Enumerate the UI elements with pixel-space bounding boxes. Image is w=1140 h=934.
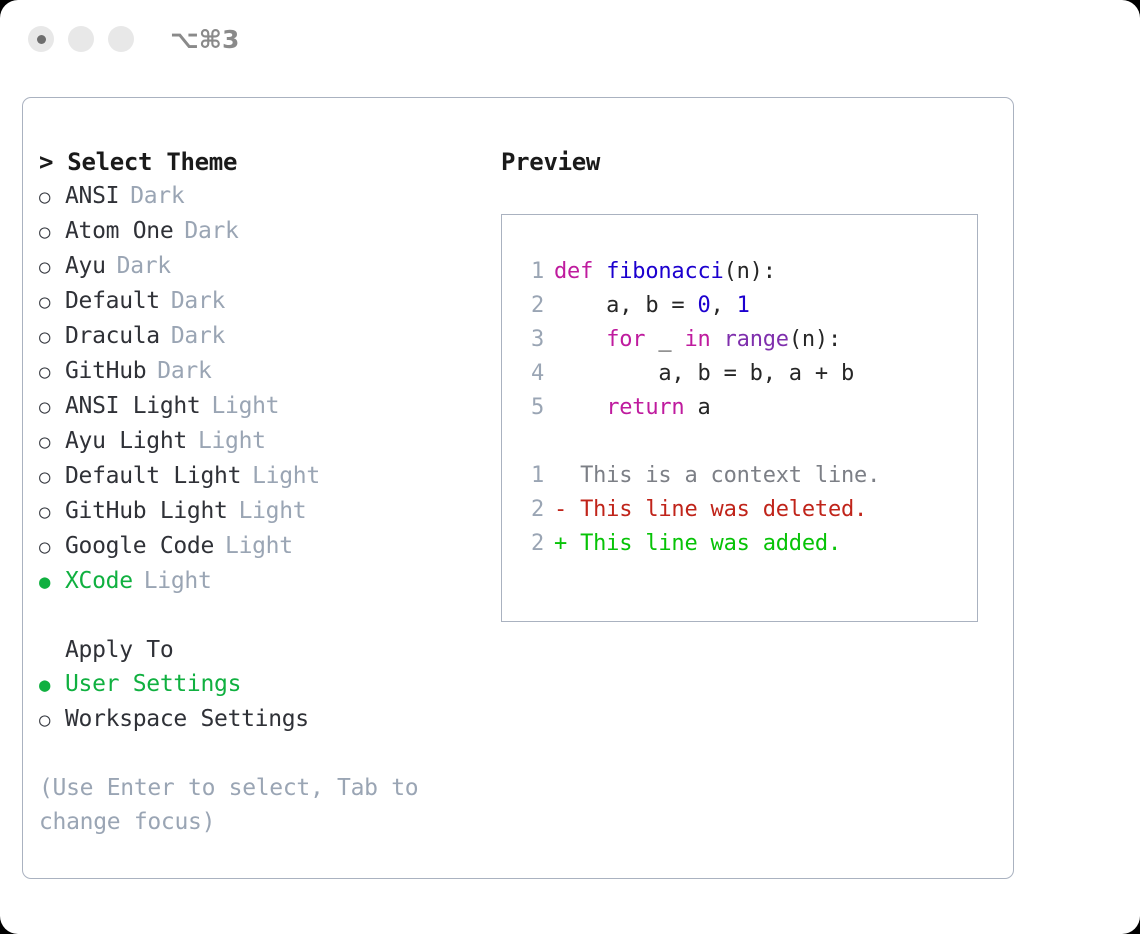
diff-line: 1 This is a context line. xyxy=(502,459,977,493)
code-token: , xyxy=(711,293,737,318)
theme-name-label: ANSI xyxy=(65,179,119,213)
apply-to-list: ●User Settings○Workspace Settings xyxy=(39,667,493,737)
theme-name-label: Default xyxy=(65,284,160,318)
line-number: 1 xyxy=(518,459,544,493)
theme-name-label: Ayu xyxy=(65,249,106,283)
code-token: a, b = b, a + b xyxy=(554,361,854,386)
theme-variant-tag: Light xyxy=(239,494,307,528)
radio-unselected-icon: ○ xyxy=(39,460,65,494)
window-dot-3[interactable] xyxy=(108,26,134,52)
theme-list-item[interactable]: ○DraculaDark xyxy=(39,319,493,354)
theme-name-label: Atom One xyxy=(65,214,173,248)
code-line-text: + This line was added. xyxy=(554,527,841,561)
preview-heading: Preview xyxy=(501,145,1013,179)
window-dot-1[interactable] xyxy=(28,26,54,52)
theme-name-label: Dracula xyxy=(65,319,160,353)
code-line-text: for _ in range(n): xyxy=(554,323,841,357)
theme-list-item[interactable]: ○GitHub LightLight xyxy=(39,494,493,529)
code-token: return xyxy=(606,395,684,420)
radio-unselected-icon: ○ xyxy=(39,495,65,529)
theme-list-item[interactable]: ○Google CodeLight xyxy=(39,529,493,564)
theme-variant-tag: Dark xyxy=(117,249,171,283)
keyboard-shortcut-label: ⌥⌘3 xyxy=(170,25,239,54)
radio-unselected-icon: ○ xyxy=(39,285,65,319)
preview-column: Preview 1def fibonacci(n):2 a, b = 0, 13… xyxy=(493,98,1013,878)
theme-variant-tag: Dark xyxy=(171,284,225,318)
select-theme-heading: > Select Theme xyxy=(39,145,493,179)
code-line: 4 a, b = b, a + b xyxy=(502,357,977,391)
radio-selected-icon: ● xyxy=(39,565,65,599)
code-token: This is a context line. xyxy=(554,463,880,488)
radio-unselected-icon: ○ xyxy=(39,320,65,354)
theme-selector-column: > Select Theme ○ANSIDark○Atom OneDark○Ay… xyxy=(23,98,493,878)
apply-to-item[interactable]: ○Workspace Settings xyxy=(39,702,493,737)
code-token: a xyxy=(684,395,710,420)
theme-name-label: GitHub Light xyxy=(65,494,228,528)
code-token: (n): xyxy=(724,259,776,284)
code-token xyxy=(593,259,606,284)
theme-name-label: ANSI Light xyxy=(65,389,200,423)
code-token: _ xyxy=(645,327,684,352)
theme-list-item[interactable]: ○ANSI LightLight xyxy=(39,389,493,424)
list-spacer xyxy=(39,599,493,633)
code-token: + This line was added. xyxy=(554,531,841,556)
theme-list-item[interactable]: ○GitHubDark xyxy=(39,354,493,389)
apply-to-item[interactable]: ●User Settings xyxy=(39,667,493,702)
line-number: 1 xyxy=(518,255,544,289)
theme-name-label: Google Code xyxy=(65,529,214,563)
radio-unselected-icon: ○ xyxy=(39,390,65,424)
code-line-text: This is a context line. xyxy=(554,459,880,493)
theme-variant-tag: Light xyxy=(198,424,266,458)
theme-list-item[interactable]: ●XCodeLight xyxy=(39,564,493,599)
window-dot-2[interactable] xyxy=(68,26,94,52)
code-token: in xyxy=(684,327,710,352)
code-line: 3 for _ in range(n): xyxy=(502,323,977,357)
line-number: 2 xyxy=(518,289,544,323)
theme-name-label: Ayu Light xyxy=(65,424,187,458)
line-number: 3 xyxy=(518,323,544,357)
theme-list-item[interactable]: ○DefaultDark xyxy=(39,284,493,319)
theme-name-label: Default Light xyxy=(65,459,241,493)
radio-unselected-icon: ○ xyxy=(39,180,65,214)
theme-list-item[interactable]: ○Ayu LightLight xyxy=(39,424,493,459)
theme-variant-tag: Light xyxy=(225,529,293,563)
theme-list-item[interactable]: ○AyuDark xyxy=(39,249,493,284)
app-window: ⌥⌘3 > Select Theme ○ANSIDark○Atom OneDar… xyxy=(0,0,1140,934)
line-number: 2 xyxy=(518,493,544,527)
code-token xyxy=(554,395,606,420)
theme-variant-tag: Light xyxy=(211,389,279,423)
line-number: 2 xyxy=(518,527,544,561)
code-line-text: def fibonacci(n): xyxy=(554,255,776,289)
code-token xyxy=(554,327,606,352)
code-token: (n): xyxy=(789,327,841,352)
radio-unselected-icon: ○ xyxy=(39,425,65,459)
code-sample: 1def fibonacci(n):2 a, b = 0, 13 for _ i… xyxy=(502,255,977,425)
code-line-text: - This line was deleted. xyxy=(554,493,867,527)
radio-unselected-icon: ○ xyxy=(39,215,65,249)
apply-to-label: Workspace Settings xyxy=(65,702,309,736)
theme-name-label: GitHub xyxy=(65,354,146,388)
radio-unselected-icon: ○ xyxy=(39,530,65,564)
theme-list-item[interactable]: ○Default LightLight xyxy=(39,459,493,494)
title-bar: ⌥⌘3 xyxy=(0,0,1140,78)
code-line: 1def fibonacci(n): xyxy=(502,255,977,289)
code-token: for xyxy=(606,327,645,352)
code-line-text: a, b = 0, 1 xyxy=(554,289,750,323)
code-blank-line xyxy=(502,425,977,459)
theme-variant-tag: Dark xyxy=(171,319,225,353)
code-token xyxy=(711,327,724,352)
theme-variant-tag: Dark xyxy=(130,179,184,213)
line-number: 4 xyxy=(518,357,544,391)
code-line-text: return a xyxy=(554,391,711,425)
code-token: 0 xyxy=(698,293,711,318)
theme-name-label: XCode xyxy=(65,564,133,598)
theme-variant-tag: Dark xyxy=(157,354,211,388)
radio-unselected-icon: ○ xyxy=(39,250,65,284)
code-token: a, b = xyxy=(554,293,698,318)
apply-to-label: User Settings xyxy=(65,667,241,701)
diff-sample: 1 This is a context line.2- This line wa… xyxy=(502,459,977,561)
radio-selected-icon: ● xyxy=(39,668,65,702)
theme-variant-tag: Light xyxy=(144,564,212,598)
main-panel: > Select Theme ○ANSIDark○Atom OneDark○Ay… xyxy=(22,97,1014,879)
keyboard-hint-text: (Use Enter to select, Tab to change focu… xyxy=(39,771,439,839)
radio-unselected-icon: ○ xyxy=(39,703,65,737)
diff-line: 2+ This line was added. xyxy=(502,527,977,561)
active-dot-inner xyxy=(37,35,46,44)
theme-list-item[interactable]: ○Atom OneDark xyxy=(39,214,493,249)
radio-unselected-icon: ○ xyxy=(39,355,65,389)
code-token: fibonacci xyxy=(606,259,723,284)
theme-list: ○ANSIDark○Atom OneDark○AyuDark○DefaultDa… xyxy=(39,179,493,599)
code-line: 2 a, b = 0, 1 xyxy=(502,289,977,323)
code-line: 5 return a xyxy=(502,391,977,425)
theme-variant-tag: Dark xyxy=(184,214,238,248)
diff-line: 2- This line was deleted. xyxy=(502,493,977,527)
code-token: def xyxy=(554,259,593,284)
theme-variant-tag: Light xyxy=(252,459,320,493)
code-token: range xyxy=(724,327,789,352)
preview-code-box: 1def fibonacci(n):2 a, b = 0, 13 for _ i… xyxy=(501,214,978,622)
code-line-text: a, b = b, a + b xyxy=(554,357,854,391)
line-number: 5 xyxy=(518,391,544,425)
code-token: 1 xyxy=(737,293,750,318)
apply-to-heading: Apply To xyxy=(39,633,493,667)
code-token: - This line was deleted. xyxy=(554,497,867,522)
theme-list-item[interactable]: ○ANSIDark xyxy=(39,179,493,214)
